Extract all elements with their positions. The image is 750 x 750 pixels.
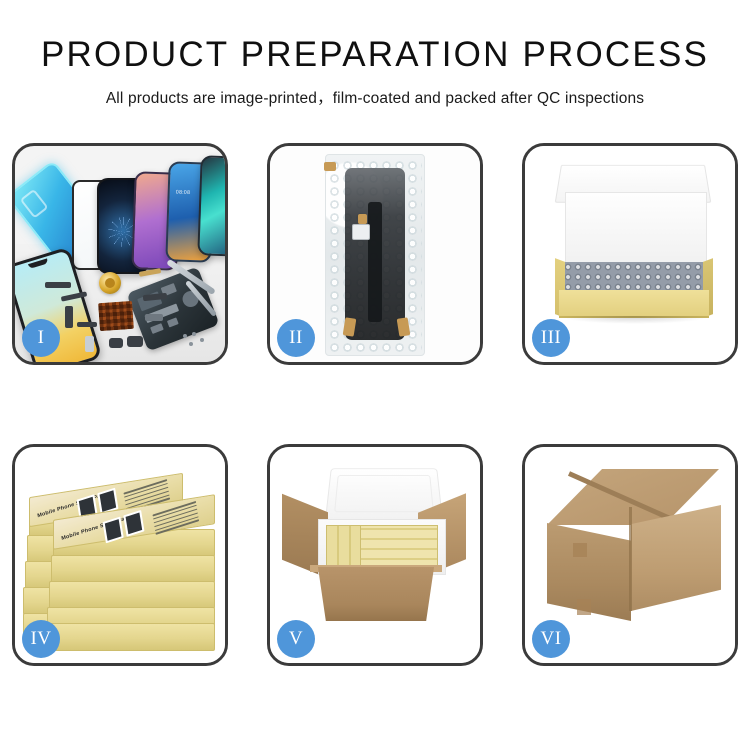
step-badge-1: I xyxy=(22,319,60,357)
step-badge-2: II xyxy=(277,319,315,357)
phone-notch-icon xyxy=(28,258,49,269)
camera-module-icon xyxy=(127,336,143,347)
carton-body-icon xyxy=(310,567,442,621)
step-panel-3: III xyxy=(522,143,738,365)
page-title: PRODUCT PREPARATION PROCESS xyxy=(0,36,750,75)
vibration-motor-icon xyxy=(99,272,121,294)
tape-patch-icon xyxy=(573,543,587,557)
step-badge-6: VI xyxy=(532,620,570,658)
step-panel-4: Mobile Phone Spare Parts Mobile Phone Sp… xyxy=(12,444,228,666)
header: PRODUCT PREPARATION PROCESS All products… xyxy=(0,0,750,108)
retail-box xyxy=(51,555,215,583)
retail-box-stack: Mobile Phone Spare Parts Mobile Phone Sp… xyxy=(23,463,219,649)
tape-tab-icon xyxy=(324,162,336,171)
battery-connector-icon xyxy=(145,314,163,321)
flex-cable-icon xyxy=(77,322,97,327)
step-badge-3: III xyxy=(532,319,570,357)
foam-sheet-icon xyxy=(565,192,707,266)
carton-edge xyxy=(629,507,632,611)
phone-teal-icon xyxy=(197,155,225,256)
sim-tray-icon xyxy=(85,336,94,352)
speaker-module-icon xyxy=(45,282,71,288)
connector-icon xyxy=(352,224,370,240)
page-subtitle: All products are image-printed，film-coat… xyxy=(0,86,750,108)
step-panel-6: VI xyxy=(522,444,738,666)
step-panel-5: V xyxy=(267,444,483,666)
process-steps-grid: 08:08 xyxy=(12,143,738,688)
drop-shadow xyxy=(559,316,711,324)
tape-patch-icon xyxy=(577,599,591,615)
step-panel-2: II xyxy=(267,143,483,365)
product-preparation-infographic: PRODUCT PREPARATION PROCESS All products… xyxy=(0,0,750,750)
bubble-wrap-layer-icon xyxy=(563,262,705,292)
step-panel-1: 08:08 xyxy=(12,143,228,365)
camera-module-icon xyxy=(109,338,123,348)
flex-cable-icon xyxy=(65,306,73,328)
phone-clock-text: 08:08 xyxy=(176,189,191,196)
ic-chip-grid-icon xyxy=(98,301,134,331)
flex-cable-icon xyxy=(368,202,382,322)
screws-icon xyxy=(183,332,209,348)
retail-box xyxy=(49,581,215,609)
packed-retail-boxes-icon xyxy=(360,525,438,569)
retail-box xyxy=(45,623,215,651)
step-badge-5: V xyxy=(277,620,315,658)
step-badge-4: IV xyxy=(22,620,60,658)
box-front-icon xyxy=(559,290,709,318)
tape-tab-icon xyxy=(358,214,367,224)
